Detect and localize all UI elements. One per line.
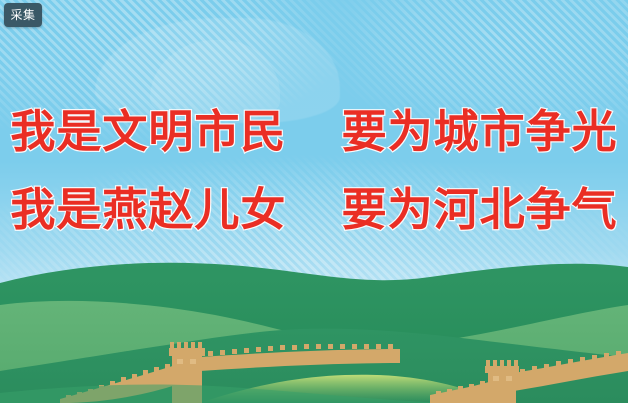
capture-button[interactable]: 采集 <box>4 3 42 27</box>
slogan-block: 我是文明市民 要为城市争光 我是燕赵儿女 要为河北争气 <box>0 93 628 249</box>
slogan-line-1-left: 我是文明市民 <box>10 93 286 171</box>
slogan-line-2-right: 要为河北争气 <box>342 171 618 249</box>
slogan-line-2-left: 我是燕赵儿女 <box>10 171 286 249</box>
screenshot-canvas: 我是文明市民 要为城市争光 我是燕赵儿女 要为河北争气 采集 <box>0 0 628 403</box>
great-wall-tower-right <box>485 360 519 403</box>
landscape-illustration <box>0 253 628 403</box>
slogan-line-1-right: 要为城市争光 <box>342 93 618 171</box>
slogan-line-1: 我是文明市民 要为城市争光 <box>0 93 628 171</box>
slogan-line-2: 我是燕赵儿女 要为河北争气 <box>0 171 628 249</box>
